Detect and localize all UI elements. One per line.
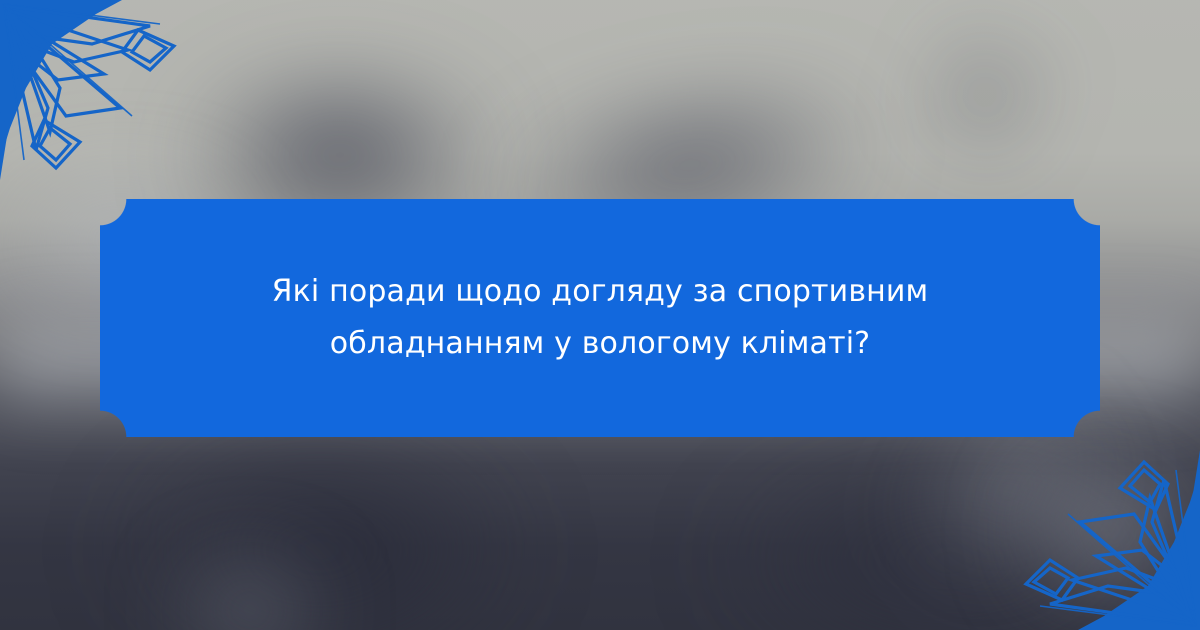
social-card: Які поради щодо догляду за спортивним об… xyxy=(0,0,1200,630)
question-banner: Які поради щодо догляду за спортивним об… xyxy=(100,199,1100,437)
question-title: Які поради щодо догляду за спортивним об… xyxy=(100,266,1100,369)
